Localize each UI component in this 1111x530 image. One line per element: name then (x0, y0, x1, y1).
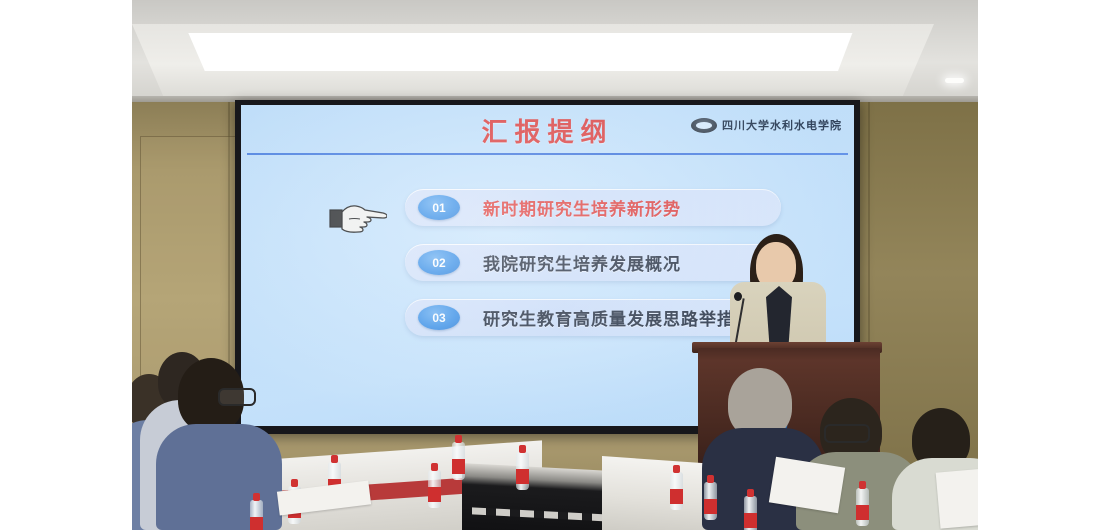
outline-number-badge: 03 (418, 305, 460, 330)
water-bottle (250, 500, 263, 530)
microphone-head (734, 292, 742, 301)
water-bottle (670, 472, 683, 510)
audience-member-torso (156, 424, 282, 530)
slide-title-divider (247, 153, 848, 155)
water-bottle (428, 470, 441, 508)
university-brand-text: 四川大学水利水电学院 (722, 117, 842, 133)
university-emblem-icon (691, 118, 717, 133)
presenter-shirt (766, 286, 792, 348)
water-bottle (704, 482, 717, 520)
water-bottle (516, 452, 529, 490)
letterbox-bar-right (978, 0, 1111, 530)
water-bottle (452, 442, 465, 480)
eyeglasses (824, 424, 870, 443)
outline-item-01[interactable]: 01 新时期研究生培养新形势 (405, 189, 781, 226)
outline-item-label: 我院研究生培养发展概况 (483, 250, 681, 275)
ceiling-spot-light (945, 78, 964, 83)
water-bottle (856, 488, 869, 526)
water-bottle (744, 496, 757, 530)
outline-number-badge: 02 (418, 250, 460, 275)
eyeglasses (218, 388, 256, 406)
pointing-hand-icon (329, 202, 387, 236)
ceiling (132, 0, 978, 104)
letterbox-bar-left (0, 0, 132, 530)
screenshot-canvas: 汇报提纲 四川大学水利水电学院 01 新时期研究生培养新形势 (0, 0, 1111, 530)
conference-photo: 汇报提纲 四川大学水利水电学院 01 新时期研究生培养新形势 (132, 0, 978, 530)
university-brand: 四川大学水利水电学院 (691, 117, 842, 133)
outline-number-badge: 01 (418, 195, 460, 220)
outline-item-label: 新时期研究生培养新形势 (483, 195, 681, 220)
ceiling-light-panel (176, 33, 862, 71)
document-paper (936, 467, 978, 528)
